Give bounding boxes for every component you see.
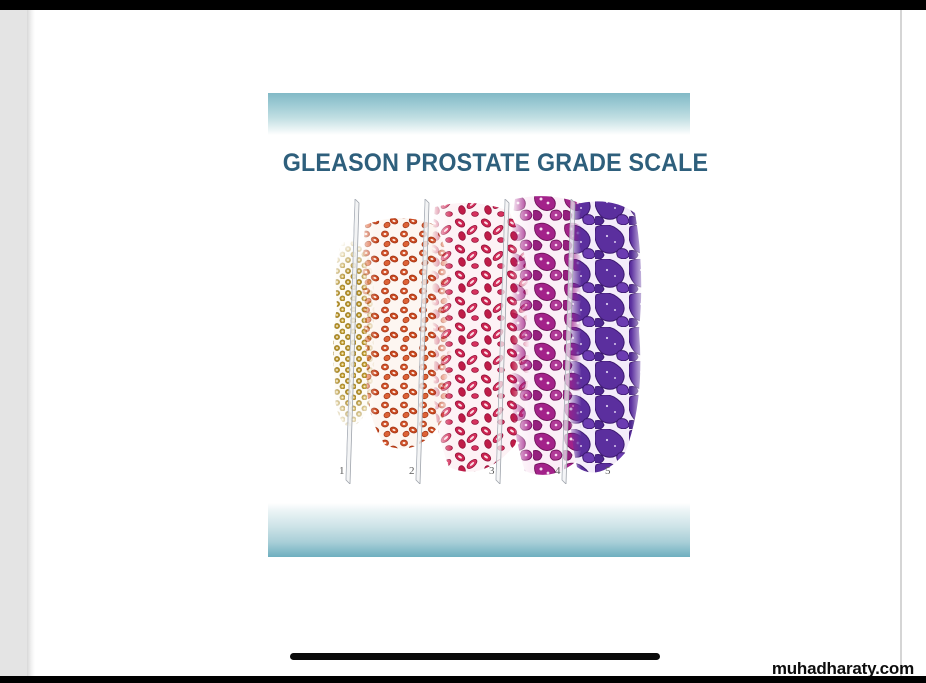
page-title: GLEASON PROSTATE GRADE SCALE — [283, 149, 675, 178]
grade-label-1: 1 — [339, 465, 345, 477]
slide-header-band — [268, 93, 690, 135]
tissue-pattern-graphic — [323, 191, 643, 491]
gleason-grade-diagram: 1 2 3 4 5 — [323, 191, 643, 491]
home-indicator[interactable] — [290, 653, 660, 660]
grade-label-4: 4 — [555, 465, 561, 477]
navigation-bar — [0, 676, 926, 683]
status-bar — [0, 0, 926, 10]
slide-footer-band — [268, 503, 690, 557]
right-edge-divider — [900, 10, 902, 676]
grade-label-5: 5 — [605, 465, 611, 477]
slide-container: GLEASON PROSTATE GRADE SCALE — [268, 93, 690, 557]
left-rail — [0, 10, 27, 676]
grade-label-3: 3 — [489, 465, 495, 477]
grade-label-2: 2 — [409, 465, 415, 477]
left-rail-shadow — [27, 10, 35, 676]
